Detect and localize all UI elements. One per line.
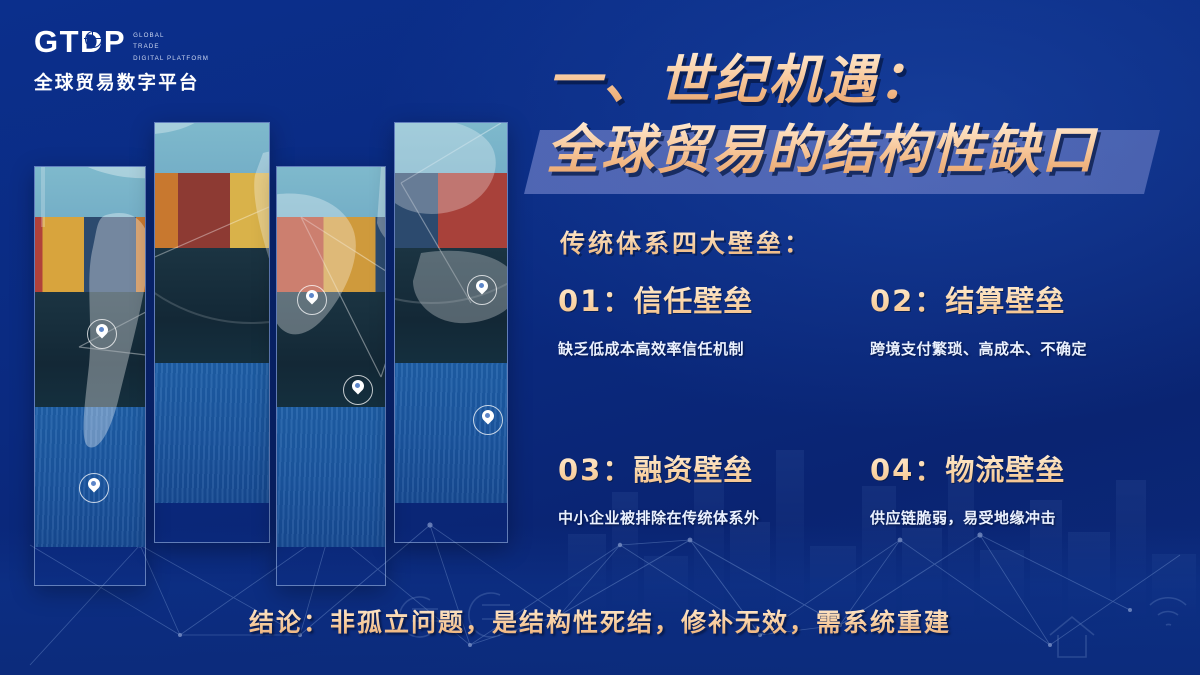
map-pin-icon	[343, 375, 373, 405]
barrier-heading: 01：信任壁垒	[558, 278, 870, 320]
barrier-item-03: 03：融资壁垒 中小企业被排除在传统体系外	[558, 447, 870, 528]
barriers-row-1: 01：信任壁垒 缺乏低成本高效率信任机制 02：结算壁垒 跨境支付繁琐、高成本、…	[558, 278, 1182, 359]
map-pin-icon	[87, 319, 117, 349]
barrier-item-01: 01：信任壁垒 缺乏低成本高效率信任机制	[558, 278, 870, 359]
barrier-number: 02：	[870, 284, 945, 318]
barrier-number: 01：	[558, 284, 633, 318]
title-line-2: 全球贸易的结构性缺口	[524, 122, 1184, 179]
image-collage	[0, 0, 520, 675]
collage-panel-4	[394, 122, 508, 543]
barrier-name: 结算壁垒	[945, 284, 1065, 318]
barrier-name: 物流壁垒	[945, 453, 1065, 487]
map-pin-icon	[297, 285, 327, 315]
logo-chinese-name: 全球贸易数字平台	[34, 69, 249, 95]
logo-tagline: GLOBAL TRADE DIGITAL PLATFORM	[133, 26, 209, 64]
page-title: 一、世纪机遇： 全球贸易的结构性缺口	[524, 52, 1184, 179]
section-subheading: 传统体系四大壁垒：	[560, 224, 812, 260]
map-pin-icon	[473, 405, 503, 435]
brand-logo: GTDP GLOBAL TRADE DIGITAL PLATFORM 全球贸易数…	[34, 26, 249, 95]
barrier-description: 供应链脆弱，易受地缘冲击	[870, 507, 1182, 528]
barrier-item-04: 04：物流壁垒 供应链脆弱，易受地缘冲击	[870, 447, 1182, 528]
barrier-number: 04：	[870, 453, 945, 487]
barrier-heading: 02：结算壁垒	[870, 278, 1182, 320]
barrier-description: 缺乏低成本高效率信任机制	[558, 338, 870, 359]
collage-panel-2	[154, 122, 270, 543]
barrier-number: 03：	[558, 453, 633, 487]
barriers-grid: 01：信任壁垒 缺乏低成本高效率信任机制 02：结算壁垒 跨境支付繁琐、高成本、…	[558, 278, 1182, 528]
barrier-description: 跨境支付繁琐、高成本、不确定	[870, 338, 1182, 359]
barrier-description: 中小企业被排除在传统体系外	[558, 507, 870, 528]
slide-root: GTDP GLOBAL TRADE DIGITAL PLATFORM 全球贸易数…	[0, 0, 1200, 675]
barrier-heading: 04：物流壁垒	[870, 447, 1182, 489]
barrier-item-02: 02：结算壁垒 跨境支付繁琐、高成本、不确定	[870, 278, 1182, 359]
barrier-heading: 03：融资壁垒	[558, 447, 870, 489]
barrier-name: 信任壁垒	[633, 284, 753, 318]
title-line-1: 一、世纪机遇：	[524, 52, 1184, 109]
barriers-row-2: 03：融资壁垒 中小企业被排除在传统体系外 04：物流壁垒 供应链脆弱，易受地缘…	[558, 447, 1182, 528]
logo-wordmark: GTDP	[34, 26, 126, 57]
map-pin-icon	[467, 275, 497, 305]
collage-panel-1	[34, 166, 146, 586]
map-pin-icon	[79, 473, 109, 503]
barrier-name: 融资壁垒	[633, 453, 753, 487]
globe-icon	[85, 31, 102, 48]
collage-panel-3	[276, 166, 386, 586]
conclusion-text: 结论：非孤立问题，是结构性死结，修补无效，需系统重建	[0, 603, 1200, 639]
